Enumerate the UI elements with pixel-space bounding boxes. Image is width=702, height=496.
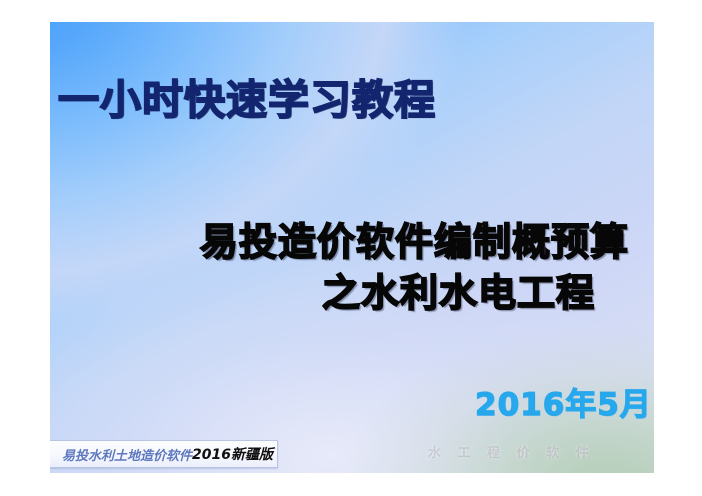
product-label-edition: 2016新疆版 xyxy=(192,444,273,464)
page-canvas: 一小时快速学习教程 易投造价软件编制概预算 之水利水电工程 2016年5月 水 … xyxy=(0,0,702,496)
presentation-slide: 一小时快速学习教程 易投造价软件编制概预算 之水利水电工程 2016年5月 水 … xyxy=(50,22,654,473)
product-label-name: 易投水利土地造价软件 xyxy=(50,445,192,464)
slide-heading: 一小时快速学习教程 xyxy=(58,80,436,121)
product-label-plate: 易投水利土地造价软件 2016新疆版 xyxy=(50,440,278,468)
background-watermark: 水 工 程 价 软 件 xyxy=(428,442,643,461)
slide-subtitle-line-2: 之水利水电工程 xyxy=(322,274,595,312)
slide-subtitle-line-1: 易投造价软件编制概预算 xyxy=(200,223,629,261)
slide-date: 2016年5月 xyxy=(475,390,652,421)
